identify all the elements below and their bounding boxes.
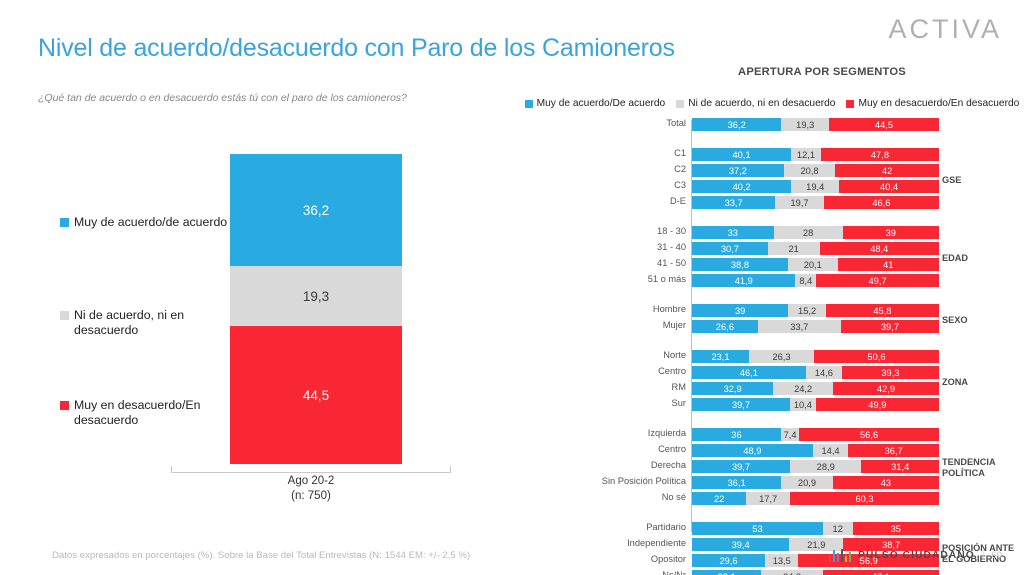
segment-group-label-sexo: SEXO	[942, 315, 1022, 326]
segment-row-sexo-0-agree: 39	[692, 304, 788, 317]
segment-row-total: Total36,219,344,5	[600, 118, 1024, 131]
segment-row-gse-3-track: 33,719,746,6	[692, 196, 939, 209]
segment-row-zona-1-label: Centro	[600, 365, 686, 378]
segment-row-edad-0-track: 332839	[692, 226, 939, 239]
segment-row-zona-0-neutral-value: 26,3	[772, 352, 790, 362]
segment-row-posici-n-ante-el-gobierno-3-agree-value: 28,1	[718, 572, 736, 575]
segment-row-posici-n-ante-el-gobierno-0-disagree-value: 35	[891, 524, 901, 534]
segment-row-zona-3-label: Sur	[600, 397, 686, 410]
segment-row-gse-2-disagree-value: 40,4	[880, 182, 898, 192]
segment-row-sexo-1-disagree-value: 39,7	[881, 322, 899, 332]
main-segment-disagree-value: 44,5	[303, 388, 329, 403]
segment-row-sexo-1-neutral-value: 33,7	[790, 322, 808, 332]
segment-row-zona-1-agree-value: 46,1	[740, 368, 758, 378]
segment-row-posici-n-ante-el-gobierno-3-label: Ns/Nr	[600, 569, 686, 575]
segments-legend-disagree-swatch	[846, 100, 854, 108]
main-segment-agree-value: 36,2	[303, 203, 329, 218]
segment-row-total-label: Total	[600, 117, 686, 130]
segment-row-posici-n-ante-el-gobierno-0-neutral-value: 12	[833, 524, 843, 534]
segment-row-sexo-1-neutral: 33,7	[758, 320, 841, 333]
segments-legend-agree[interactable]: Muy de acuerdo/De acuerdo	[525, 98, 666, 109]
segment-row-zona-0-disagree-value: 50,6	[867, 352, 885, 362]
segment-row-edad-2-label: 41 - 50	[600, 257, 686, 270]
segment-row-gse-2-agree: 40,2	[692, 180, 791, 193]
segment-row-gse-3-agree-value: 33,7	[725, 198, 743, 208]
segment-row-tendencia-pol-tica-3-neutral-value: 20,9	[798, 478, 816, 488]
segment-row-zona-1-disagree: 39,3	[842, 366, 939, 379]
segment-row-edad-3: 51 o más41,98,449,7	[600, 274, 1024, 287]
segments-panel-title: APERTURA POR SEGMENTOS	[620, 66, 1024, 78]
segment-row-tendencia-pol-tica-0: Izquierda367,456,6	[600, 428, 1024, 441]
segment-row-gse-3-neutral: 19,7	[775, 196, 824, 209]
segment-row-edad-2-disagree: 41	[838, 258, 939, 271]
segment-row-zona-1-track: 46,114,639,3	[692, 366, 939, 379]
segment-row-posici-n-ante-el-gobierno-1-neutral-value: 21,9	[807, 540, 825, 550]
segment-row-edad-3-agree-value: 41,9	[735, 276, 753, 286]
segment-row-edad-2-neutral: 20,1	[788, 258, 838, 271]
segment-row-tendencia-pol-tica-2-agree-value: 39,7	[732, 462, 750, 472]
segment-row-tendencia-pol-tica-1-neutral: 14,4	[813, 444, 849, 457]
segment-row-edad-3-agree: 41,9	[692, 274, 795, 287]
segment-row-gse-1-neutral-value: 20,8	[801, 166, 819, 176]
segment-row-gse-3-agree: 33,7	[692, 196, 775, 209]
segment-row-gse-0-disagree-value: 47,8	[871, 150, 889, 160]
segment-row-edad-3-track: 41,98,449,7	[692, 274, 939, 287]
segment-row-posici-n-ante-el-gobierno-2-label: Opositor	[600, 553, 686, 566]
segment-row-total-neutral: 19,3	[781, 118, 829, 131]
segment-row-posici-n-ante-el-gobierno-3-neutral-value: 24,8	[783, 572, 801, 575]
segment-row-posici-n-ante-el-gobierno-0-disagree: 35	[853, 522, 939, 535]
segment-row-gse-1-agree: 37,2	[692, 164, 784, 177]
segment-row-tendencia-pol-tica-1-disagree: 36,7	[848, 444, 939, 457]
segment-row-tendencia-pol-tica-3-agree: 36,1	[692, 476, 781, 489]
legend-swatch-blue	[60, 218, 69, 227]
legend-label-disagree: Muy en desacuerdo/En desacuerdo	[74, 398, 234, 428]
segment-row-edad-2-agree-value: 38,8	[731, 260, 749, 270]
segment-row-tendencia-pol-tica-4-label: No sé	[600, 491, 686, 504]
segment-row-edad-0-agree-value: 33	[728, 228, 738, 238]
main-chart-legend: Muy de acuerdo/de acuerdo Ni de acuerdo,…	[60, 140, 240, 470]
legend-item-agree: Muy de acuerdo/de acuerdo	[60, 215, 234, 230]
segment-row-gse-1-neutral: 20,8	[784, 164, 835, 177]
segment-row-zona-2-track: 32,924,242,9	[692, 382, 939, 395]
segment-row-total-disagree: 44,5	[829, 118, 939, 131]
segment-row-total-track: 36,219,344,5	[692, 118, 939, 131]
segment-row-gse-2-agree-value: 40,2	[733, 182, 751, 192]
segment-row-tendencia-pol-tica-2-disagree: 31,4	[861, 460, 939, 473]
segment-row-tendencia-pol-tica-2-neutral-value: 28,9	[817, 462, 835, 472]
segment-row-tendencia-pol-tica-0-label: Izquierda	[600, 427, 686, 440]
main-stacked-bar-chart: Muy de acuerdo/de acuerdo Ni de acuerdo,…	[36, 140, 506, 490]
segment-row-tendencia-pol-tica-3-agree-value: 36,1	[728, 478, 746, 488]
segment-row-posici-n-ante-el-gobierno-2-neutral: 13,5	[765, 554, 798, 567]
segment-row-edad-3-disagree-value: 49,7	[869, 276, 887, 286]
segment-row-zona-3-track: 39,710,449,9	[692, 398, 939, 411]
segment-row-posici-n-ante-el-gobierno-1-disagree-value: 38,7	[882, 540, 900, 550]
segment-row-sexo-1-track: 26,633,739,7	[692, 320, 939, 333]
segment-row-zona-3: Sur39,710,449,9	[600, 398, 1024, 411]
segment-row-sexo-0-track: 3915,245,8	[692, 304, 939, 317]
segment-row-posici-n-ante-el-gobierno-3-neutral: 24,8	[761, 570, 822, 575]
segment-row-tendencia-pol-tica-3-disagree: 43	[833, 476, 939, 489]
segment-row-zona-3-disagree-value: 49,9	[868, 400, 886, 410]
segment-row-gse-3-label: D-E	[600, 195, 686, 208]
segment-row-edad-1-disagree-value: 48,4	[870, 244, 888, 254]
main-segment-disagree: 44,5	[230, 326, 402, 464]
segment-row-edad-1-neutral: 21	[768, 242, 820, 255]
segment-row-zona-3-neutral: 10,4	[790, 398, 816, 411]
segment-row-gse-0-neutral: 12,1	[791, 148, 821, 161]
segment-row-tendencia-pol-tica-0-disagree-value: 56,6	[860, 430, 878, 440]
pulso-ciudadano-logo: PULSO CIUDADANO | 60	[829, 549, 1002, 562]
segment-group-label-gse: GSE	[942, 175, 1022, 186]
main-segment-agree: 36,2	[230, 154, 402, 266]
segment-row-zona-0-agree: 23,1	[692, 350, 749, 363]
segment-row-gse-0-track: 40,112,147,8	[692, 148, 939, 161]
segment-row-gse-2-disagree: 40,4	[839, 180, 939, 193]
segment-row-tendencia-pol-tica-0-agree-value: 36	[731, 430, 741, 440]
segment-row-posici-n-ante-el-gobierno-1-agree-value: 39,4	[732, 540, 750, 550]
segment-row-posici-n-ante-el-gobierno-3: Ns/Nr28,124,847,1	[600, 570, 1024, 575]
segment-row-gse-0-agree-value: 40,1	[732, 150, 750, 160]
bar-chart-icon	[829, 549, 852, 562]
segment-row-tendencia-pol-tica-3-track: 36,120,943	[692, 476, 939, 489]
segment-row-sexo-0-neutral: 15,2	[788, 304, 826, 317]
segments-legend-disagree[interactable]: Muy en desacuerdo/En desacuerdo	[846, 98, 1019, 109]
segment-row-gse-1-agree-value: 37,2	[729, 166, 747, 176]
segments-panel: Total36,219,344,5C140,112,147,8C237,220,…	[600, 118, 1024, 538]
segment-row-tendencia-pol-tica-0-agree: 36	[692, 428, 781, 441]
segment-row-gse-2-neutral-value: 19,4	[806, 182, 824, 192]
segment-row-edad-3-neutral: 8,4	[795, 274, 816, 287]
category-base: (n: 750)	[171, 489, 451, 504]
segments-legend-agree-swatch	[525, 100, 533, 108]
page-subtitle: ¿Qué tan de acuerdo o en desacuerdo está…	[38, 92, 407, 104]
segment-row-posici-n-ante-el-gobierno-0: Partidario531235	[600, 522, 1024, 535]
segment-row-zona-1-disagree-value: 39,3	[881, 368, 899, 378]
segment-row-total-agree: 36,2	[692, 118, 781, 131]
segment-group-label-tendencia-pol-tica: TENDENCIA POLÍTICA	[942, 457, 1022, 479]
segments-legend-neutral-swatch	[676, 100, 684, 108]
segments-legend-disagree-label: Muy en desacuerdo/En desacuerdo	[858, 98, 1019, 109]
segment-row-tendencia-pol-tica-3-disagree-value: 43	[881, 478, 891, 488]
segments-legend-agree-label: Muy de acuerdo/De acuerdo	[537, 98, 666, 109]
legend-swatch-red	[60, 401, 69, 410]
segment-row-posici-n-ante-el-gobierno-1-agree: 39,4	[692, 538, 789, 551]
segment-row-zona-2-neutral-value: 24,2	[794, 384, 812, 394]
segment-row-gse-2-neutral: 19,4	[791, 180, 839, 193]
main-segment-neutral: 19,3	[230, 266, 402, 326]
segment-row-gse-3-disagree: 46,6	[824, 196, 939, 209]
segment-row-posici-n-ante-el-gobierno-2-neutral-value: 13,5	[773, 556, 791, 566]
segment-row-zona-3-neutral-value: 10,4	[794, 400, 812, 410]
segment-row-gse-2-track: 40,219,440,4	[692, 180, 939, 193]
segment-row-zona-2-disagree: 42,9	[833, 382, 939, 395]
segment-row-posici-n-ante-el-gobierno-3-disagree: 47,1	[823, 570, 939, 575]
category-axis-label: Ago 20-2 (n: 750)	[171, 474, 451, 503]
segment-row-edad-3-disagree: 49,7	[816, 274, 939, 287]
segment-row-edad-0-disagree-value: 39	[886, 228, 896, 238]
segment-row-posici-n-ante-el-gobierno-2-agree-value: 29,6	[720, 556, 738, 566]
segment-row-edad-2-disagree-value: 41	[883, 260, 893, 270]
main-segment-neutral-value: 19,3	[303, 289, 329, 304]
main-bar-column: 36,219,344,5	[230, 154, 402, 464]
segment-row-zona-2-label: RM	[600, 381, 686, 394]
segment-row-edad-1-neutral-value: 21	[788, 244, 798, 254]
segment-row-sexo-1-label: Mujer	[600, 319, 686, 332]
segment-row-edad-1-agree-value: 30,7	[721, 244, 739, 254]
segment-row-posici-n-ante-el-gobierno-3-track: 28,124,847,1	[692, 570, 939, 575]
segment-row-tendencia-pol-tica-0-disagree: 56,6	[799, 428, 939, 441]
segment-row-tendencia-pol-tica-3-label: Sin Posición Política	[600, 475, 686, 488]
segment-row-gse-0-label: C1	[600, 147, 686, 160]
legend-item-neutral: Ni de acuerdo, ni en desacuerdo	[60, 308, 234, 338]
segment-row-zona-3-disagree: 49,9	[816, 398, 939, 411]
segment-row-zona-0-neutral: 26,3	[749, 350, 814, 363]
segment-row-tendencia-pol-tica-1-agree-value: 48,9	[743, 446, 761, 456]
segment-row-posici-n-ante-el-gobierno-0-agree: 53	[692, 522, 823, 535]
segment-group-label-edad: EDAD	[942, 253, 1022, 264]
segment-row-edad-0-disagree: 39	[843, 226, 939, 239]
segment-row-tendencia-pol-tica-3-neutral: 20,9	[781, 476, 833, 489]
segment-row-zona-2-disagree-value: 42,9	[877, 384, 895, 394]
segment-row-edad-0-agree: 33	[692, 226, 774, 239]
segment-row-tendencia-pol-tica-0-neutral-value: 7,4	[784, 430, 797, 440]
segment-row-tendencia-pol-tica-2-agree: 39,7	[692, 460, 790, 473]
pulso-name: PULSO CIUDADANO	[858, 550, 975, 561]
category-axis-bracket	[171, 466, 451, 473]
segment-row-edad-1-agree: 30,7	[692, 242, 768, 255]
segment-row-tendencia-pol-tica-2-disagree-value: 31,4	[891, 462, 909, 472]
slide-root: ACTIVA Nivel de acuerdo/desacuerdo con P…	[0, 0, 1024, 575]
segment-row-gse-1-track: 37,220,842	[692, 164, 939, 177]
segment-row-sexo-1-disagree: 39,7	[841, 320, 939, 333]
segments-legend-neutral-label: Ni de acuerdo, ni en desacuerdo	[688, 98, 835, 109]
segment-row-total-neutral-value: 19,3	[796, 120, 814, 130]
segment-row-tendencia-pol-tica-4-disagree-value: 60,3	[855, 494, 873, 504]
segment-row-posici-n-ante-el-gobierno-0-track: 531235	[692, 522, 939, 535]
segment-row-tendencia-pol-tica-2-label: Derecha	[600, 459, 686, 472]
segment-row-edad-3-neutral-value: 8,4	[799, 276, 812, 286]
segment-row-sexo-1-agree: 26,6	[692, 320, 758, 333]
segment-row-posici-n-ante-el-gobierno-2-agree: 29,6	[692, 554, 765, 567]
segment-row-gse-3: D-E33,719,746,6	[600, 196, 1024, 209]
segment-row-zona-0: Norte23,126,350,6	[600, 350, 1024, 363]
segment-row-tendencia-pol-tica-4: No sé2217,760,3	[600, 492, 1024, 505]
segments-legend: Muy de acuerdo/De acuerdoNi de acuerdo, …	[520, 98, 1024, 109]
segment-row-zona-2-neutral: 24,2	[773, 382, 833, 395]
segment-row-total-disagree-value: 44,5	[875, 120, 893, 130]
segment-row-total-agree-value: 36,2	[728, 120, 746, 130]
segment-row-zona-0-disagree: 50,6	[814, 350, 939, 363]
legend-item-disagree: Muy en desacuerdo/En desacuerdo	[60, 398, 234, 428]
segment-row-gse-0-neutral-value: 12,1	[797, 150, 815, 160]
segment-row-sexo-0-agree-value: 39	[735, 306, 745, 316]
segment-row-edad-3-label: 51 o más	[600, 273, 686, 286]
segment-row-zona-3-agree-value: 39,7	[732, 400, 750, 410]
segment-row-tendencia-pol-tica-4-neutral: 17,7	[746, 492, 790, 505]
segment-row-edad-2-neutral-value: 20,1	[804, 260, 822, 270]
segment-row-sexo-0-label: Hombre	[600, 303, 686, 316]
legend-label-agree: Muy de acuerdo/de acuerdo	[74, 215, 234, 230]
segment-row-tendencia-pol-tica-1-track: 48,914,436,7	[692, 444, 939, 457]
segment-row-sexo-0-disagree: 45,8	[826, 304, 939, 317]
segment-row-tendencia-pol-tica-4-neutral-value: 17,7	[759, 494, 777, 504]
segment-row-gse-1-disagree: 42	[835, 164, 939, 177]
segment-row-tendencia-pol-tica-2-track: 39,728,931,4	[692, 460, 939, 473]
segment-row-gse-1-label: C2	[600, 163, 686, 176]
segment-row-zona-3-agree: 39,7	[692, 398, 790, 411]
segment-row-tendencia-pol-tica-0-track: 367,456,6	[692, 428, 939, 441]
footnote: Datos expresados en porcentajes (%). Sob…	[52, 550, 470, 561]
segment-row-posici-n-ante-el-gobierno-1-label: Independiente	[600, 537, 686, 550]
segment-row-gse-2-label: C3	[600, 179, 686, 192]
segment-row-edad-1-track: 30,72148,4	[692, 242, 939, 255]
segment-row-edad-0: 18 - 30332839	[600, 226, 1024, 239]
segments-legend-neutral[interactable]: Ni de acuerdo, ni en desacuerdo	[676, 98, 835, 109]
segment-row-tendencia-pol-tica-1-neutral-value: 14,4	[822, 446, 840, 456]
segment-row-posici-n-ante-el-gobierno-0-agree-value: 53	[752, 524, 762, 534]
segment-row-tendencia-pol-tica-1: Centro48,914,436,7	[600, 444, 1024, 457]
segment-row-gse-3-neutral-value: 19,7	[791, 198, 809, 208]
segment-row-edad-0-neutral: 28	[774, 226, 843, 239]
segment-row-edad-0-label: 18 - 30	[600, 225, 686, 238]
segment-row-zona-1-neutral: 14,6	[806, 366, 842, 379]
segment-row-tendencia-pol-tica-1-disagree-value: 36,7	[885, 446, 903, 456]
segment-row-zona-2-agree-value: 32,9	[724, 384, 742, 394]
segment-row-zona-0-track: 23,126,350,6	[692, 350, 939, 363]
segment-row-sexo-1-agree-value: 26,6	[716, 322, 734, 332]
segment-row-posici-n-ante-el-gobierno-3-disagree-value: 47,1	[872, 572, 890, 575]
segment-row-edad-1-disagree: 48,4	[820, 242, 939, 255]
segment-row-zona-2-agree: 32,9	[692, 382, 773, 395]
segment-row-edad-2-track: 38,820,141	[692, 258, 939, 271]
segment-row-tendencia-pol-tica-4-disagree: 60,3	[790, 492, 939, 505]
segment-row-tendencia-pol-tica-4-agree-value: 22	[714, 494, 724, 504]
segment-row-tendencia-pol-tica-1-agree: 48,9	[692, 444, 813, 457]
segment-row-edad-1-label: 31 - 40	[600, 241, 686, 254]
segment-row-posici-n-ante-el-gobierno-0-label: Partidario	[600, 521, 686, 534]
segment-row-zona-1-neutral-value: 14,6	[815, 368, 833, 378]
segment-row-tendencia-pol-tica-0-neutral: 7,4	[781, 428, 799, 441]
segment-row-sexo-0-disagree-value: 45,8	[873, 306, 891, 316]
segment-row-zona-0-agree-value: 23,1	[711, 352, 729, 362]
segment-row-zona-1-agree: 46,1	[692, 366, 806, 379]
segment-row-gse-0-disagree: 47,8	[821, 148, 939, 161]
segment-row-tendencia-pol-tica-4-agree: 22	[692, 492, 746, 505]
segment-row-edad-0-neutral-value: 28	[803, 228, 813, 238]
segment-row-edad-2-agree: 38,8	[692, 258, 788, 271]
segment-row-tendencia-pol-tica-2-neutral: 28,9	[790, 460, 861, 473]
legend-swatch-gray	[60, 311, 69, 320]
segment-row-sexo-0-neutral-value: 15,2	[798, 306, 816, 316]
segment-row-tendencia-pol-tica-4-track: 2217,760,3	[692, 492, 939, 505]
legend-label-neutral: Ni de acuerdo, ni en desacuerdo	[74, 308, 234, 338]
segment-group-label-zona: ZONA	[942, 377, 1022, 388]
page-number: 60	[991, 550, 1002, 561]
segment-row-gse-1-disagree-value: 42	[882, 166, 892, 176]
segment-row-tendencia-pol-tica-1-label: Centro	[600, 443, 686, 456]
activa-logo: ACTIVA	[888, 14, 1002, 45]
segment-row-posici-n-ante-el-gobierno-0-neutral: 12	[823, 522, 853, 535]
segment-row-gse-3-disagree-value: 46,6	[872, 198, 890, 208]
segment-row-gse-0-agree: 40,1	[692, 148, 791, 161]
footer-separator: |	[982, 550, 985, 561]
category-name: Ago 20-2	[171, 474, 451, 489]
segment-row-zona-0-label: Norte	[600, 349, 686, 362]
page-title: Nivel de acuerdo/desacuerdo con Paro de …	[38, 34, 675, 63]
segment-row-gse-0: C140,112,147,8	[600, 148, 1024, 161]
segment-row-posici-n-ante-el-gobierno-3-agree: 28,1	[692, 570, 761, 575]
